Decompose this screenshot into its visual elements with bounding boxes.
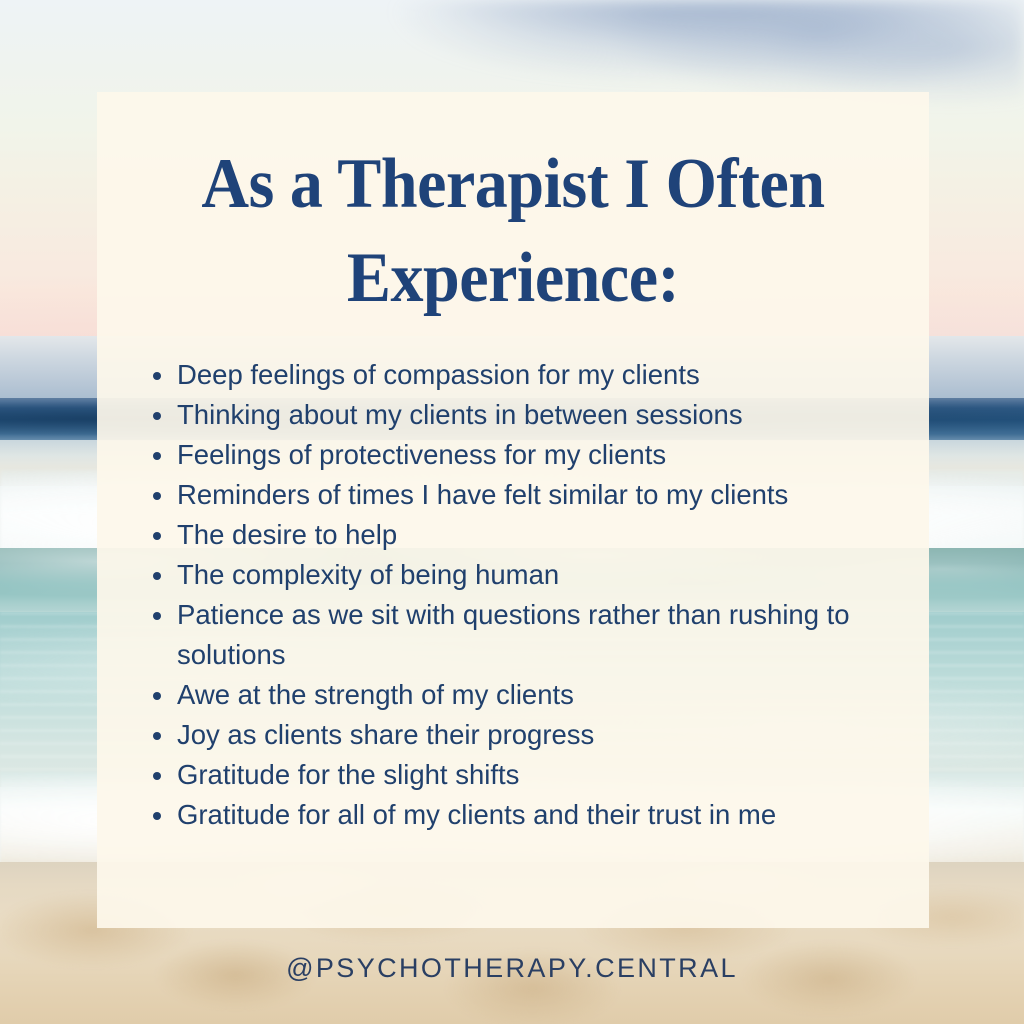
list-item: Deep feelings of compassion for my clien… xyxy=(148,355,895,395)
list-item: Feelings of protectiveness for my client… xyxy=(148,435,895,475)
list-item: The desire to help xyxy=(148,515,895,555)
list-item: Awe at the strength of my clients xyxy=(148,675,895,715)
experience-list: Deep feelings of compassion for my clien… xyxy=(97,355,929,835)
list-item: Reminders of times I have felt similar t… xyxy=(148,475,895,515)
page-title: As a Therapist I Often Experience: xyxy=(126,92,900,325)
content-card: As a Therapist I Often Experience: Deep … xyxy=(97,92,929,928)
list-item: Gratitude for the slight shifts xyxy=(148,755,895,795)
list-item: Gratitude for all of my clients and thei… xyxy=(148,795,895,835)
list-item: The complexity of being human xyxy=(148,555,895,595)
social-handle: @PSYCHOTHERAPY.CENTRAL xyxy=(0,953,1024,984)
list-item: Joy as clients share their progress xyxy=(148,715,895,755)
list-item: Patience as we sit with questions rather… xyxy=(148,595,895,675)
quote-card-canvas: As a Therapist I Often Experience: Deep … xyxy=(0,0,1024,1024)
list-item: Thinking about my clients in between ses… xyxy=(148,395,895,435)
